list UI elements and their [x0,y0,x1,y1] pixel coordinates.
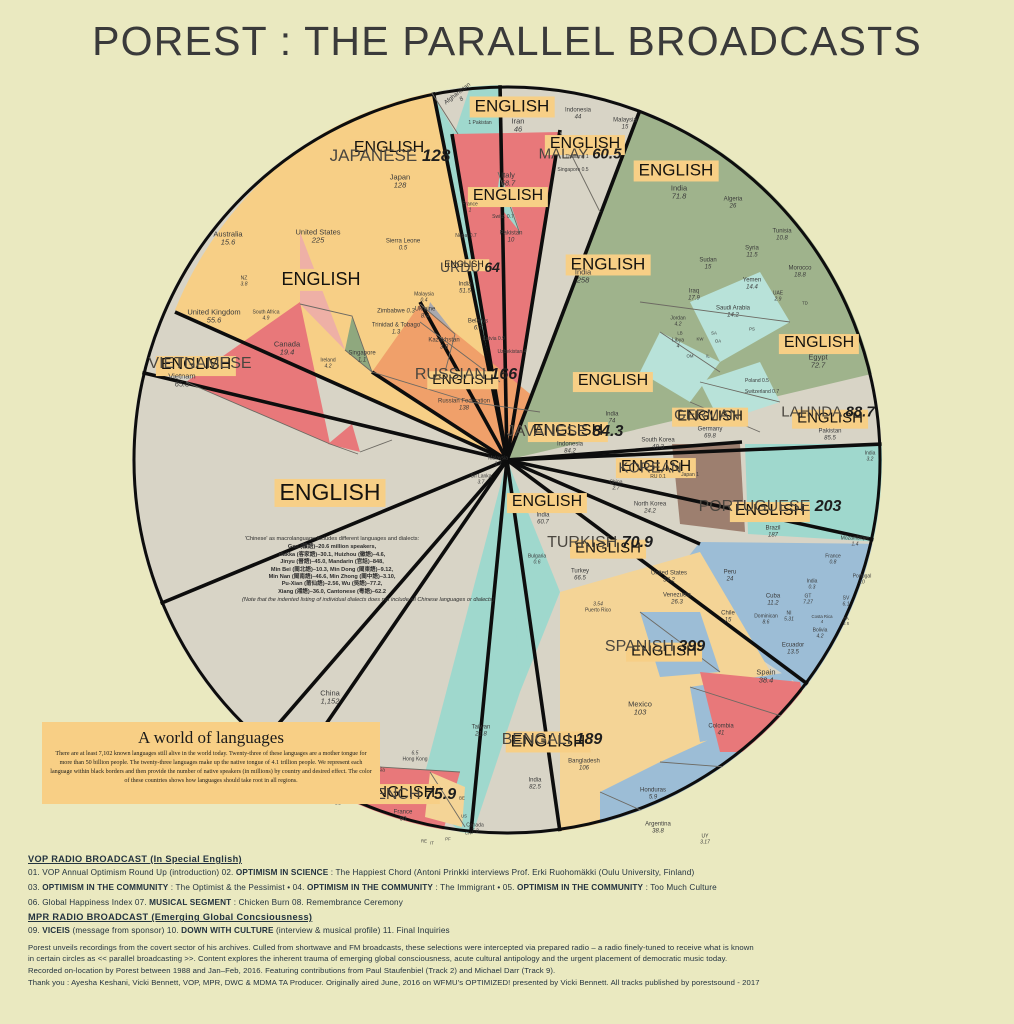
blurb-line: Recorded on-location by Porest between 1… [28,965,988,977]
english-sticker: ENGLISH [634,160,719,181]
language-name-urdu: URDU 64 [440,259,500,275]
blurb-line: Thank you : Ayesha Keshani, Vicki Bennet… [28,977,988,989]
language-name-german: GERMAN [674,407,740,424]
caption-heading: A world of languages [42,722,380,750]
english-sticker: ENGLISH [507,493,587,513]
language-wheel-diagram: ENGLISH ENGLISH ENGLISH ENGLISH ENGLISH … [0,72,1014,847]
language-name-spanish: SPANISH 399 [605,638,705,656]
language-name-bengali: BENGALI 189 [502,731,603,749]
vop-line: 03. OPTIMISM IN THE COMMUNITY : The Opti… [28,883,988,893]
english-sticker: ENGLISH [275,479,386,507]
mpr-heading: MPR RADIO BROADCAST (Emerging Global Con… [28,912,988,922]
credits-block: VOP RADIO BROADCAST (In Special English)… [28,854,988,988]
mpr-line: 09. VICEIS (message from sponsor) 10. DO… [28,926,988,936]
caption-card: A world of languages There are at least … [42,722,380,804]
language-total: 128 [422,146,450,165]
english-sticker: ENGLISH [573,372,653,392]
caption-body: There are at least 7,102 known languages… [42,750,380,787]
language-total: 70.9 [622,534,653,551]
english-sticker: ENGLISH [468,187,548,207]
language-total: 189 [576,731,603,748]
language-name-portuguese: PORTUGUESE 203 [699,498,842,516]
language-total: 75.9 [425,786,456,803]
vop-line: 06. Global Happiness Index 07. MUSICAL S… [28,898,988,908]
language-name-malay: MALAY 60.5 [539,146,622,163]
english-sticker: ENGLISH [470,96,555,117]
language-name-korean: KOREAN [618,460,681,477]
language-name-vietnamese: VIETNAMESE [148,355,251,373]
english-sticker: ENGLISH [566,254,651,275]
language-total: 88.7 [846,404,875,421]
language-total: 84.3 [592,423,623,440]
language-total: 64 [484,259,500,275]
language-name-russian: RUSSIAN 166 [415,366,517,384]
vop-heading: VOP RADIO BROADCAST (In Special English) [28,854,988,864]
language-name-japanese: JAPANESE 128 [330,146,451,166]
english-sticker: ENGLISH [779,334,859,354]
language-name-javanese: JAVANESE 84.3 [507,423,624,441]
blurb-line: in certain circles as << parallel broadc… [28,953,988,965]
page-title: POREST : THE PARALLEL BROADCASTS [0,18,1014,65]
language-total: 203 [815,498,842,515]
vop-line: 01. VOP Annual Optimism Round Up (introd… [28,868,988,878]
english-sticker: ENGLISH [276,269,365,291]
language-total: 166 [490,366,517,383]
language-total: 399 [678,638,705,655]
language-total: 60.5 [592,146,621,163]
blurb-line: Porest unveils recordings from the cover… [28,942,988,954]
language-name-turkish: TURKISH 70.9 [547,534,653,552]
language-name-lahnda: LAHNDA 88.7 [781,404,874,421]
